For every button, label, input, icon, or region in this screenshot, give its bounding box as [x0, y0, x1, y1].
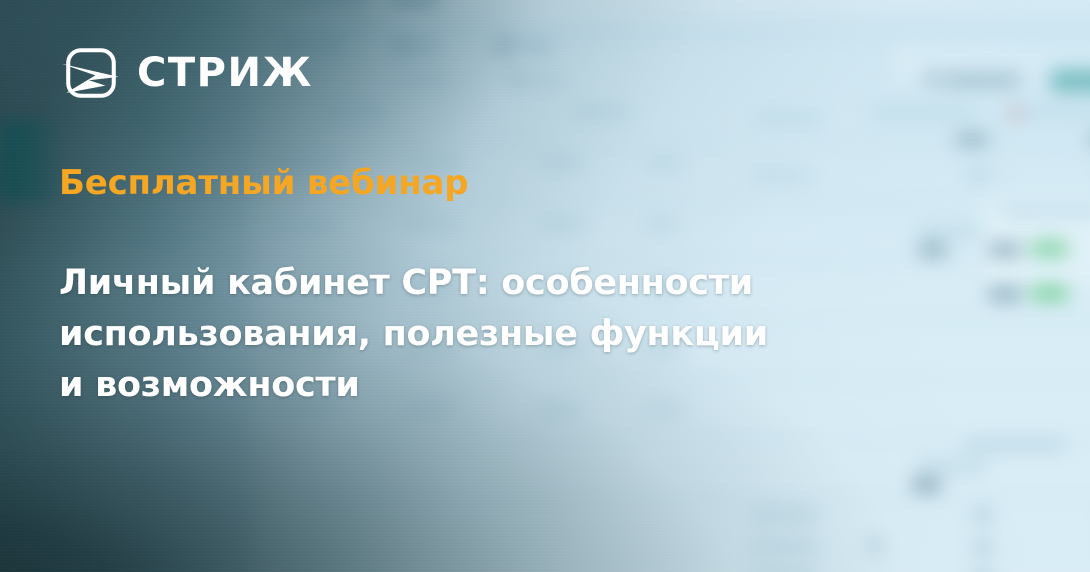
- webinar-promo-banner: СТРИЖ Бесплатный вебинар Личный кабинет …: [0, 0, 1090, 572]
- page-title-line: Личный кабинет СРТ: особенности: [59, 258, 859, 309]
- page-title: Личный кабинет СРТ: особенности использо…: [59, 258, 859, 411]
- swift-bird-in-rounded-square-icon: [60, 42, 122, 104]
- page-title-line: использования, полезные функции: [59, 309, 859, 360]
- brand-wordmark: СТРИЖ: [137, 53, 313, 93]
- brand-lockup: СТРИЖ: [60, 42, 313, 104]
- webinar-kicker: Бесплатный вебинар: [59, 165, 468, 202]
- banner-content: СТРИЖ Бесплатный вебинар Личный кабинет …: [0, 0, 1090, 572]
- page-title-line: и возможности: [59, 360, 859, 411]
